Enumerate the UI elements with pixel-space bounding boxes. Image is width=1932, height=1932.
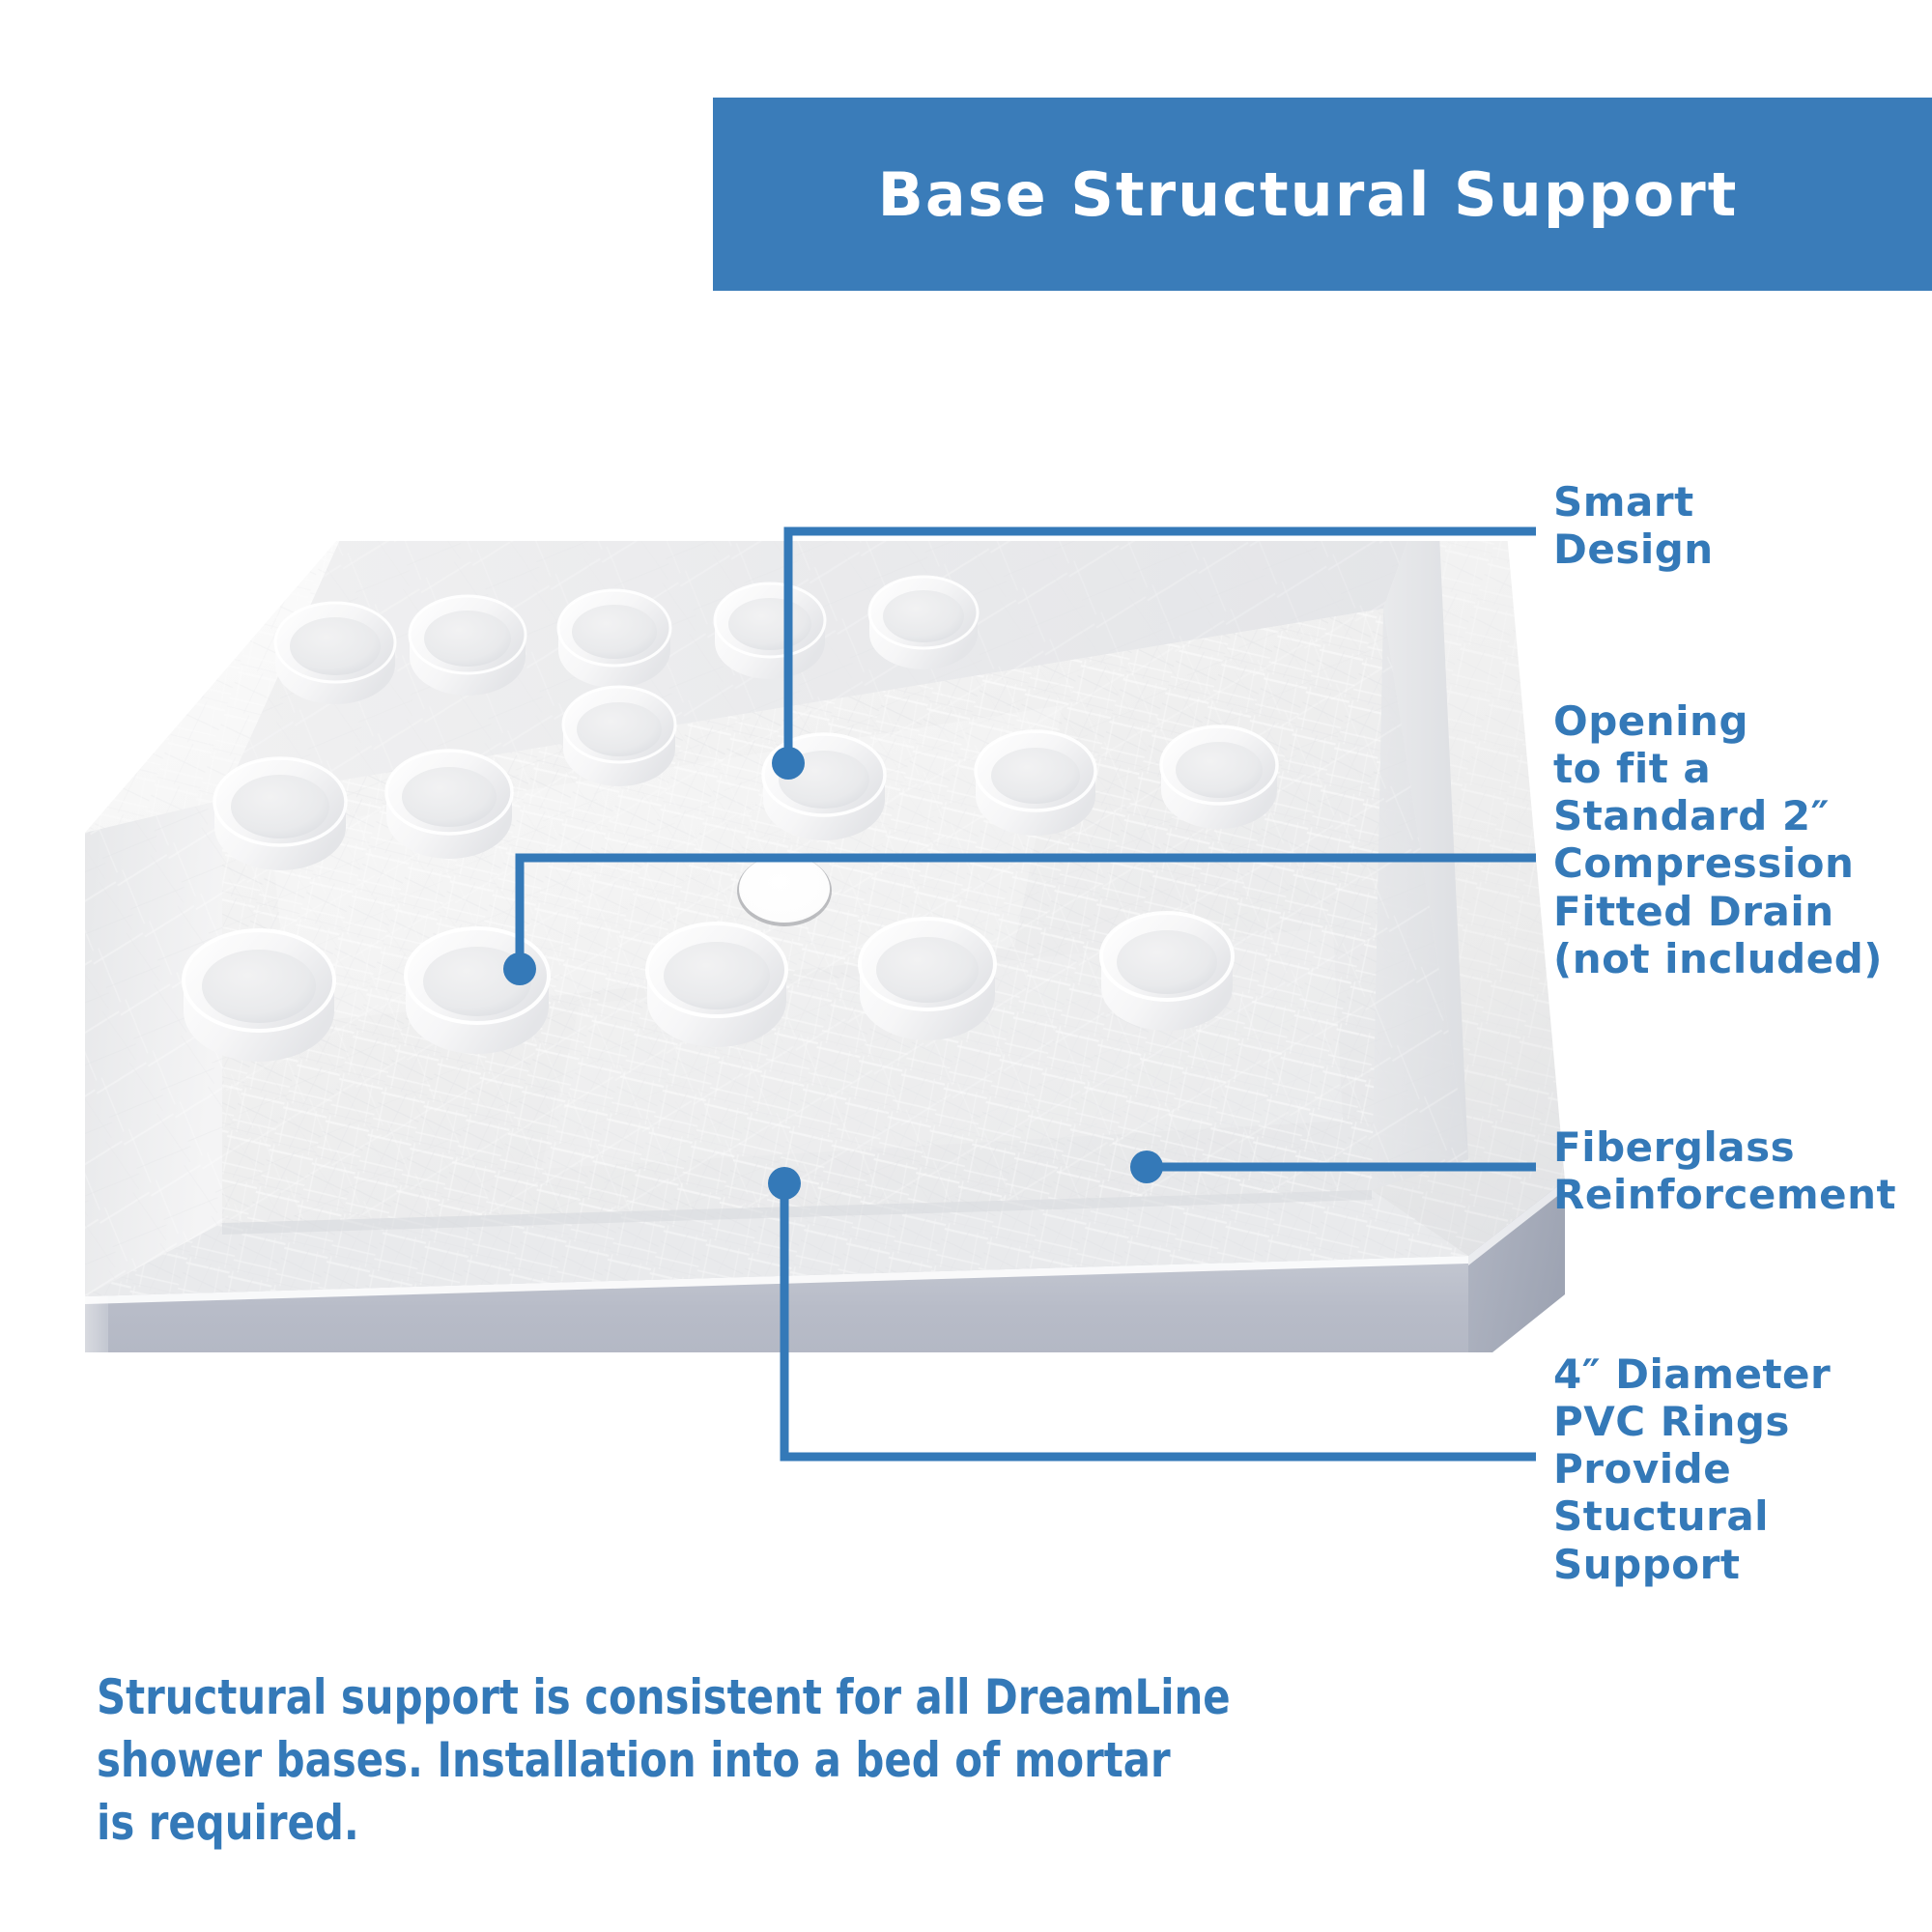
pvc-ring (410, 596, 526, 696)
pvc-ring (214, 758, 346, 870)
callout-label-smart-design: Smart Design (1553, 478, 1932, 573)
pvc-ring (184, 930, 334, 1062)
pvc-ring (869, 577, 978, 669)
product-illustration (0, 541, 1565, 1352)
pvc-ring (715, 583, 825, 679)
callout-label-fiberglass: Fiberglass Reinforcement (1553, 1123, 1932, 1218)
callout-label-pvc-rings: 4″ Diameter PVC Rings Provide Stuctural … (1553, 1350, 1932, 1588)
pvc-ring (1161, 726, 1277, 829)
footer-caption: Structural support is consistent for all… (97, 1666, 1283, 1855)
pvc-ring (1101, 913, 1233, 1031)
pvc-ring (275, 603, 395, 704)
pvc-ring (406, 928, 549, 1054)
page-title: Base Structural Support (713, 98, 1903, 291)
drain-opening (737, 855, 832, 926)
pvc-ring (976, 731, 1095, 836)
pvc-ring (558, 590, 670, 688)
pvc-ring (860, 919, 995, 1040)
pvc-ring (386, 751, 512, 859)
pvc-ring (647, 923, 786, 1047)
pvc-ring (763, 734, 885, 840)
pvc-ring (563, 687, 675, 786)
infographic-page: Base Structural Support (0, 0, 1932, 1932)
callout-label-opening: Opening to fit a Standard 2″ Compression… (1553, 697, 1932, 982)
